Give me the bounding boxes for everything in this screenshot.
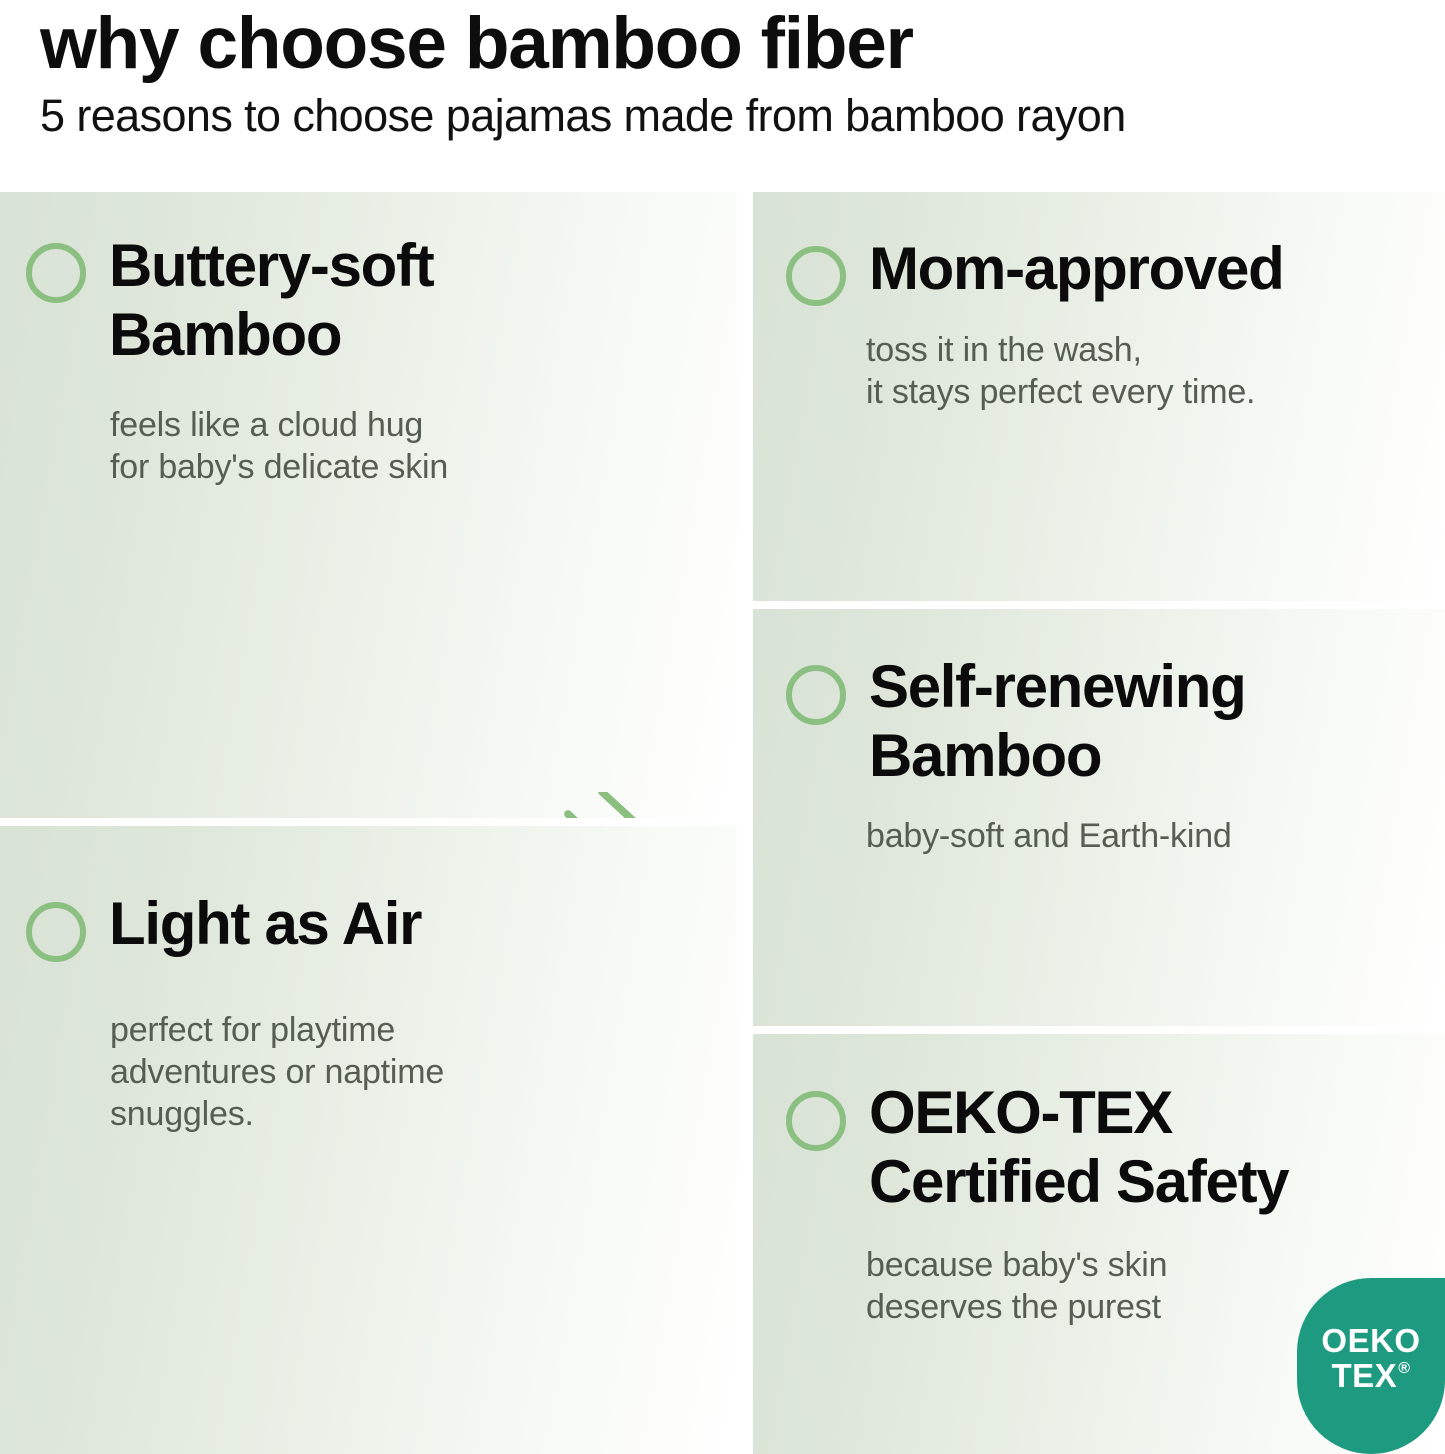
header: why choose bamboo fiber 5 reasons to cho…: [0, 0, 1445, 190]
card-body-text: toss it in the wash, it stays perfect ev…: [866, 329, 1255, 413]
card-heading-row: OEKO-TEX Certified Safety: [786, 1078, 1288, 1216]
card-heading-row: Self-renewing Bamboo: [786, 652, 1246, 790]
page-subtitle: 5 reasons to choose pajamas made from ba…: [40, 88, 1423, 144]
card-body-text: perfect for playtime adventures or napti…: [110, 1009, 444, 1135]
soft-touch-hand-icon: [476, 792, 706, 818]
card-heading-row: Light as Air: [26, 889, 421, 962]
card-title: Self-renewing Bamboo: [869, 652, 1246, 790]
oeko-tex-badge: OEKO TEX ®: [1297, 1278, 1445, 1454]
circle-bullet-icon: [786, 246, 846, 306]
card-title: OEKO-TEX Certified Safety: [869, 1078, 1288, 1216]
circle-bullet-icon: [26, 902, 86, 962]
page-title: why choose bamboo fiber: [40, 4, 1423, 84]
registered-trademark-icon: ®: [1398, 1360, 1410, 1378]
card-body-text: feels like a cloud hug for baby's delica…: [110, 404, 448, 488]
card-title: Light as Air: [109, 889, 421, 958]
oeko-badge-line-2: TEX ®: [1332, 1358, 1411, 1393]
infographic-page: why choose bamboo fiber 5 reasons to cho…: [0, 0, 1445, 1454]
circle-bullet-icon: [26, 243, 86, 303]
card-title: Buttery-soft Bamboo: [109, 231, 433, 369]
card-heading-row: Buttery-soft Bamboo: [26, 231, 433, 369]
oeko-badge-line-2-text: TEX: [1332, 1358, 1398, 1393]
card-body-text: because baby's skin deserves the purest: [866, 1244, 1167, 1328]
oeko-badge-line-1: OEKO: [1321, 1323, 1420, 1358]
card-body-text: baby-soft and Earth-kind: [866, 815, 1232, 857]
feature-card-self-renewing-bamboo: Self-renewing Bamboo baby-soft and Earth…: [753, 609, 1445, 1026]
card-title: Mom-approved: [869, 234, 1283, 303]
circle-bullet-icon: [786, 1091, 846, 1151]
feature-card-light-as-air: Light as Air perfect for playtime advent…: [0, 826, 737, 1454]
feature-card-buttery-soft-bamboo: Buttery-soft Bamboo feels like a cloud h…: [0, 192, 737, 818]
card-heading-row: Mom-approved: [786, 234, 1283, 306]
feature-card-mom-approved: Mom-approved toss it in the wash, it sta…: [753, 192, 1445, 601]
circle-bullet-icon: [786, 665, 846, 725]
